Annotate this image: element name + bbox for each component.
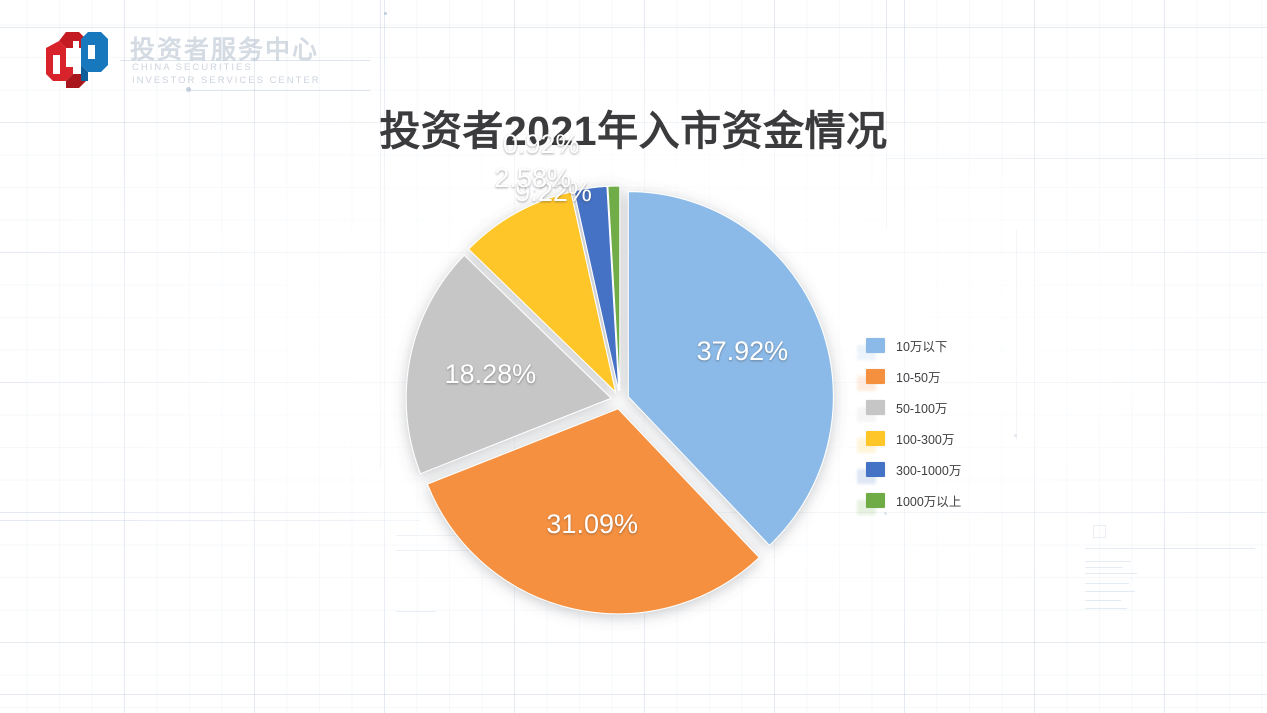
legend-item[interactable]: 300-1000万 [866,454,1016,485]
chart-legend: 10万以下10-50万50-100万100-300万300-1000万1000万… [866,330,1016,516]
logo-divider [120,60,370,61]
chart-title: 投资者2021年入市资金情况 [0,97,1267,157]
pie-chart-svg [400,175,850,605]
legend-label: 50-100万 [896,398,947,417]
legend-swatch-shadow [857,376,876,391]
logo-name-en-line1: CHINA SECURITIES [132,62,253,73]
legend-label: 100-300万 [896,429,954,448]
legend-swatch-shadow [857,345,876,360]
legend-label: 10万以下 [896,336,947,355]
legend-item[interactable]: 50-100万 [866,392,1016,423]
background-rule [0,520,420,521]
pie-chart: 37.92%31.09%18.28%9.22%2.58%0.92% [400,175,850,605]
legend-label: 300-1000万 [896,460,961,479]
legend-label: 1000万以上 [896,491,961,510]
legend-item[interactable]: 1000万以上 [866,485,1016,516]
legend-label: 10-50万 [896,367,940,386]
legend-item[interactable]: 10万以下 [866,330,1016,361]
background-rule [1016,230,1017,440]
legend-swatch-shadow [857,469,876,484]
background-rule [0,694,1267,695]
legend-swatch-shadow [857,500,876,515]
background-watermark [1085,525,1265,609]
legend-swatch-shadow [857,438,876,453]
legend-swatch-shadow [857,407,876,422]
legend-item[interactable]: 100-300万 [866,423,1016,454]
logo-name-en-line2: INVESTOR SERVICES CENTER [132,75,321,86]
legend-item[interactable]: 10-50万 [866,361,1016,392]
background-rule [380,0,381,470]
logo-divider [190,90,370,91]
slide-canvas: 投资者服务中心 CHINA SECURITIES INVESTOR SERVIC… [0,0,1267,713]
logo: 投资者服务中心 CHINA SECURITIES INVESTOR SERVIC… [44,26,344,92]
background-dot [384,12,387,15]
background-rule [886,158,1266,159]
csisc-logo-icon [44,28,110,88]
